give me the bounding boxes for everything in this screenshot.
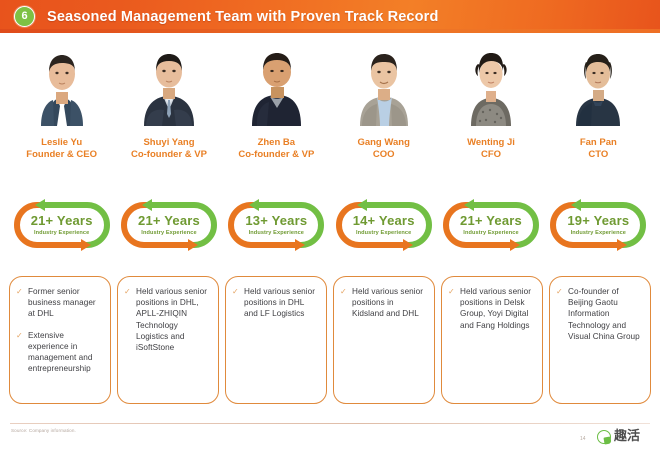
bullet-text: Co-founder of Beijing Gaotu Information … [568,286,643,342]
member-name: Shuyi Yang [143,137,194,149]
experience-badge: 21+ Years Industry Experience [13,199,111,251]
section-number-badge: 6 [14,6,35,27]
check-icon: ✓ [16,287,24,297]
check-icon: ✓ [556,287,564,297]
check-icon: ✓ [232,287,240,297]
slide: 6 Seasoned Management Team with Proven T… [0,0,660,456]
management-team-row: Leslie Yu Founder & CEO [8,40,652,176]
member-role: Co-founder & VP [131,149,207,161]
highlight-box: ✓ Held various senior positions in DHL, … [117,276,219,404]
member-name: Gang Wang [357,137,409,149]
cycle-arrow-icon [335,199,433,251]
portrait-zhen-ba [241,40,311,126]
experience-badge-cell: 14+ Years Industry Experience [330,196,437,254]
source-note: Source: Company information. [11,427,76,434]
cycle-arrow-icon [120,199,218,251]
company-logo: 趣活 [597,430,640,444]
experience-badge: 21+ Years Industry Experience [120,199,218,251]
bullet-text: Held various senior positions in Delsk G… [460,286,535,331]
bullet-item: ✓ Extensive experience in management and… [16,330,103,375]
member-name: Wenting Ji [467,137,515,149]
experience-badge-cell: 13+ Years Industry Experience [223,196,330,254]
cycle-arrow-icon [13,199,111,251]
bullet-text: Former senior business manager at DHL [28,286,103,320]
portrait-shuyi-yang [134,40,204,126]
team-member: Leslie Yu Founder & CEO [8,40,115,176]
portrait-gang-wang [349,40,419,126]
experience-badge-cell: 21+ Years Industry Experience [8,196,115,254]
cycle-arrow-icon [549,199,647,251]
logo-text: 趣活 [614,430,640,444]
highlight-box: ✓ Held various senior positions in Kidsl… [333,276,435,404]
check-icon: ✓ [448,287,456,297]
cycle-arrow-icon [227,199,325,251]
bullet-item: ✓ Former senior business manager at DHL [16,286,103,320]
highlight-box: ✓ Held various senior positions in DHL a… [225,276,327,404]
highlight-box: ✓ Co-founder of Beijing Gaotu Informatio… [549,276,651,404]
footer-divider [10,423,650,424]
page-number: 14 [580,436,586,443]
experience-badge: 14+ Years Industry Experience [335,199,433,251]
team-member: Shuyi Yang Co-founder & VP [115,40,222,176]
portrait-fan-pan [563,40,633,126]
team-member: Wenting Ji CFO [437,40,544,176]
member-name: Leslie Yu [41,137,82,149]
portrait-wenting-ji [456,40,526,126]
bullet-item: ✓ Co-founder of Beijing Gaotu Informatio… [556,286,643,342]
quhuo-logo-icon [597,430,611,444]
check-icon: ✓ [124,287,132,297]
bullet-text: Held various senior positions in DHL, AP… [136,286,211,353]
member-role: COO [373,149,395,161]
bullet-item: ✓ Held various senior positions in Delsk… [448,286,535,331]
portrait-leslie-yu [27,40,97,126]
check-icon: ✓ [340,287,348,297]
team-member: Fan Pan CTO [545,40,652,176]
highlights-row: ✓ Former senior business manager at DHL … [9,276,651,410]
team-member: Gang Wang COO [330,40,437,176]
bullet-text: Extensive experience in management and e… [28,330,103,375]
page-title: Seasoned Management Team with Proven Tra… [47,9,438,25]
highlight-box: ✓ Held various senior positions in Delsk… [441,276,543,404]
member-name: Zhen Ba [258,137,295,149]
slide-header: 6 Seasoned Management Team with Proven T… [0,0,660,33]
experience-badge-cell: 21+ Years Industry Experience [437,196,544,254]
member-role: CFO [481,149,501,161]
experience-badge: 13+ Years Industry Experience [227,199,325,251]
team-member: Zhen Ba Co-founder & VP [223,40,330,176]
bullet-item: ✓ Held various senior positions in DHL a… [232,286,319,320]
cycle-arrow-icon [442,199,540,251]
experience-badge-cell: 21+ Years Industry Experience [115,196,222,254]
experience-badge: 21+ Years Industry Experience [442,199,540,251]
member-role: Co-founder & VP [238,149,314,161]
bullet-item: ✓ Held various senior positions in Kidsl… [340,286,427,320]
bullet-text: Held various senior positions in DHL and… [244,286,319,320]
highlight-box: ✓ Former senior business manager at DHL … [9,276,111,404]
experience-badge: 19+ Years Industry Experience [549,199,647,251]
bullet-item: ✓ Held various senior positions in DHL, … [124,286,211,353]
bullet-text: Held various senior positions in Kidslan… [352,286,427,320]
member-role: CTO [588,149,608,161]
experience-badge-cell: 19+ Years Industry Experience [545,196,652,254]
member-name: Fan Pan [580,137,617,149]
section-number: 6 [21,11,27,22]
check-icon: ✓ [16,331,24,341]
experience-badges-row: 21+ Years Industry Experience 21+ Years … [8,196,652,254]
member-role: Founder & CEO [26,149,97,161]
